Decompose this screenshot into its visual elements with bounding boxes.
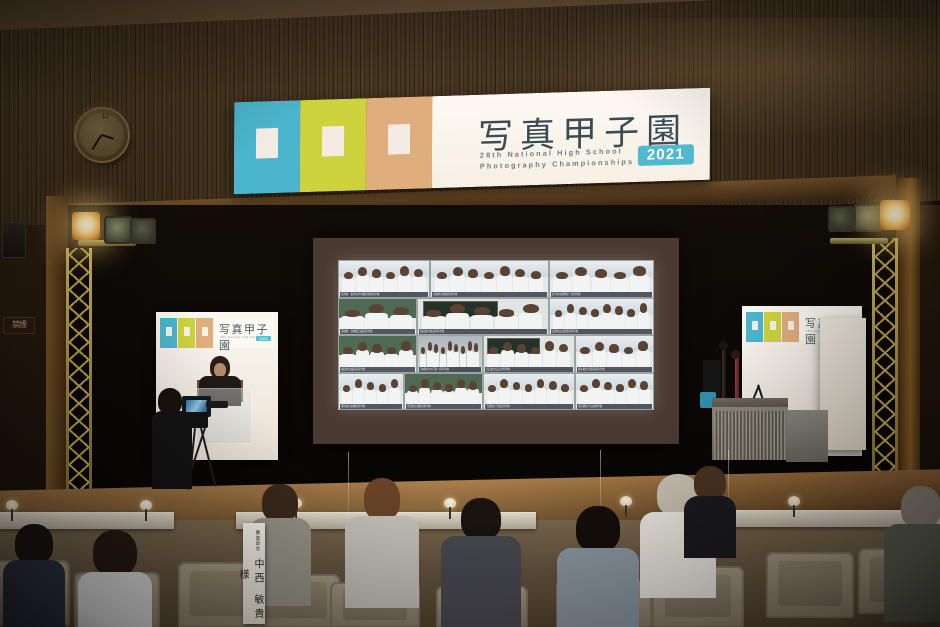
audience-member <box>688 466 732 556</box>
participant-figure <box>365 390 376 404</box>
video-tile-participants <box>339 380 403 404</box>
audience-head <box>364 478 400 520</box>
camera-lens <box>206 401 228 408</box>
video-tile-name-label: 山形県立山形東高等学校 <box>551 329 652 334</box>
participant-figure <box>590 388 601 404</box>
participant-figure <box>487 391 498 404</box>
participant-figure <box>622 354 636 367</box>
audience-torso <box>557 548 639 627</box>
desk-lamp-6 <box>788 496 800 506</box>
video-tile[interactable]: 埼玉県立浦和高等学校 <box>404 373 483 411</box>
operator-torso <box>152 411 192 489</box>
participant-figure <box>440 354 446 367</box>
audience-member <box>82 530 148 627</box>
side-wall-left <box>0 225 50 525</box>
video-tile-participants <box>550 267 653 291</box>
participant-figure <box>601 313 612 329</box>
participant-figure <box>482 279 497 292</box>
video-tile-name-text: 栃木県立宇都宮高等学校 <box>578 367 604 372</box>
panel-right-swatch-2 <box>764 312 781 342</box>
participant-figure <box>592 277 610 291</box>
participant-figure <box>553 316 564 329</box>
video-tile-name-label: 千葉県立千葉高等学校 <box>485 404 573 409</box>
participant-figure <box>511 390 522 404</box>
speaker-cabinet-left <box>2 222 26 258</box>
audience-torso <box>3 560 65 627</box>
participant-figure <box>342 279 355 292</box>
light-bar-right <box>830 238 888 244</box>
video-tile-participants <box>484 380 574 404</box>
participant-figure <box>370 277 383 291</box>
panel-left-sq-2 <box>184 327 190 336</box>
placard-surname: 中西 <box>252 559 263 587</box>
participant-figure <box>593 350 607 366</box>
placard-honorific: 様 <box>237 569 248 583</box>
video-tile-name-text: 茨城県立水戸第一高等学校 <box>420 367 449 372</box>
participant-figure <box>615 391 626 404</box>
participant-figure <box>543 350 556 366</box>
proscenium-left-jamb <box>46 196 68 496</box>
video-tile[interactable]: 福島県立福島高等学校 <box>338 335 417 373</box>
video-tile[interactable]: 山口県立山口高等学校 <box>483 335 575 373</box>
video-tile-participants <box>405 380 482 404</box>
acrylic-divider-2 <box>600 450 601 514</box>
audience-member <box>566 506 630 627</box>
participant-figure <box>523 391 534 404</box>
banner-swatch-square-1 <box>256 128 278 159</box>
video-tile-name-label: 福島県立福島高等学校 <box>340 367 415 372</box>
participant-figure <box>572 275 590 291</box>
video-tile[interactable]: 栃木県立宇都宮高等学校 <box>575 335 654 373</box>
audience-torso <box>684 496 736 558</box>
participant-figure <box>385 354 399 367</box>
participant-figure <box>487 354 500 367</box>
participant-figure <box>577 315 588 329</box>
video-tile-name-text: 山形県立山形東高等学校 <box>552 329 578 334</box>
participant-figure <box>412 277 425 292</box>
panel-left-swatch-2 <box>178 318 195 348</box>
video-tile[interactable]: 千葉県立千葉高等学校 <box>483 373 575 411</box>
audience-member <box>892 486 940 618</box>
participant-figure <box>578 391 589 404</box>
no-smoking-sign: 禁煙 <box>3 317 35 334</box>
panel-left-subtitle: 28th National High School <box>220 336 260 340</box>
lighting-truss-right <box>872 238 898 500</box>
panel-right-swatch-3 <box>782 312 799 342</box>
participant-figure <box>626 316 637 329</box>
audience-head <box>262 484 298 522</box>
participant-figure <box>420 354 426 367</box>
placard-role: 審査員長 <box>255 530 260 552</box>
video-tile[interactable]: 東京都立戸山高等学校 <box>575 373 654 411</box>
participant-figure <box>365 313 388 329</box>
banner-swatch-square-2 <box>322 126 344 157</box>
panel-left-swatch-1 <box>160 318 177 348</box>
video-tile-name-text: 東京都立戸山高等学校 <box>578 404 602 409</box>
video-tile-name-label: 宮城県・宮城県工業高等学校 <box>340 329 415 334</box>
participant-figure <box>627 388 638 404</box>
chair <box>766 552 854 618</box>
desk-lamp-5 <box>620 496 632 506</box>
panel-right-sq-3 <box>788 321 794 330</box>
video-tile-name-label: 栃木県立宇都宮高等学校 <box>577 367 652 372</box>
participant-figure <box>390 315 413 329</box>
stage-light-right-off-1 <box>828 206 854 232</box>
participant-figure <box>501 350 514 366</box>
audience-torso <box>441 536 521 627</box>
participant-figure <box>529 354 542 367</box>
lighting-truss-left <box>66 248 92 498</box>
video-tile-name-label: 山口県立山口高等学校 <box>485 367 573 372</box>
lectern-side-block-right <box>786 410 828 462</box>
video-tile-name-label: 岩手県立盛岡第一高等学校 <box>551 292 652 297</box>
audience-torso <box>78 572 152 627</box>
panel-right-sq-2 <box>770 321 776 330</box>
participant-figure <box>370 352 384 366</box>
stage-light-left-off-2 <box>130 218 156 244</box>
participant-figure <box>547 389 558 404</box>
desk-lamp-stem-1 <box>11 509 13 521</box>
participant-figure <box>447 350 453 366</box>
stage-light-right-on <box>880 200 910 230</box>
audience-head <box>461 498 501 540</box>
participant-figure <box>553 279 571 292</box>
video-tile[interactable]: 群馬県立前橋高等学校 <box>338 373 404 411</box>
banner-swatch-cyan <box>234 100 300 194</box>
participant-figure <box>460 353 466 366</box>
clock-minute-hand <box>92 135 102 150</box>
video-conference-grid: 北海道・東海大学付属札幌高等学校青森県立青森高等学校岩手県立盛岡第一高等学校宮城… <box>338 260 654 410</box>
panel-left-sq-1 <box>166 327 172 336</box>
participant-figure <box>431 390 442 404</box>
participant-figure <box>613 314 624 329</box>
video-tile[interactable]: 茨城県立水戸第一高等学校 <box>417 335 483 373</box>
video-tile-name-text: 宮城県・宮城県工業高等学校 <box>341 329 372 334</box>
participant-figure <box>453 352 459 367</box>
panel-left-text: 写真甲子園 28th National High School 2021 <box>214 318 274 348</box>
participant-figure <box>630 275 648 291</box>
video-tile-participants <box>339 267 429 291</box>
participant-figure <box>495 316 518 329</box>
video-tile[interactable]: 宮城県・宮城県工業高等学校 <box>338 298 417 336</box>
participant-figure <box>446 313 469 329</box>
participant-figure <box>638 312 649 329</box>
desk-lamp-2 <box>140 500 152 510</box>
video-tile-participants <box>576 380 653 404</box>
participant-figure <box>377 391 388 404</box>
audience-member <box>452 498 510 622</box>
participant-figure <box>341 391 352 404</box>
participant-figure <box>341 316 364 329</box>
participant-figure <box>565 313 576 329</box>
participant-figure <box>341 354 355 367</box>
banner-text-area: 写真甲子園 28th National High School Photogra… <box>432 88 710 189</box>
participant-figure <box>450 275 465 291</box>
panel-left-swatch-3 <box>196 318 213 348</box>
participant-figure <box>471 315 494 329</box>
banner-swatch-tan <box>366 96 432 190</box>
clock-numeral-12: 12 <box>102 114 109 120</box>
participant-figure <box>353 388 364 404</box>
audience-member <box>6 524 62 627</box>
participant-figure <box>467 389 478 404</box>
banner-swatch-lime <box>300 98 366 192</box>
participant-figure <box>419 388 430 404</box>
video-tile-participants <box>418 342 482 366</box>
stage-light-right-off-2 <box>854 204 882 232</box>
panel-left-logo: 写真甲子園 28th National High School 2021 <box>160 318 274 348</box>
participant-figure <box>356 350 370 366</box>
participant-figure <box>519 313 542 329</box>
participant-figure <box>466 277 481 291</box>
video-tile-name-label: 群馬県立前橋高等学校 <box>340 404 402 409</box>
participant-figure <box>499 388 510 404</box>
video-tile-participants <box>550 305 653 329</box>
participant-figure <box>589 316 600 329</box>
banner-swatch-square-3 <box>388 124 410 155</box>
video-tile-name-label: 青森県立青森高等学校 <box>432 292 547 297</box>
placard-given-name: 敏貴 <box>252 594 263 622</box>
flag-finial-1 <box>719 341 728 350</box>
video-tile[interactable]: 青森県立青森高等学校 <box>430 260 549 298</box>
audience-head <box>576 506 620 552</box>
participant-figure <box>513 277 528 292</box>
audience-torso <box>884 524 940 622</box>
audience-torso <box>345 516 419 608</box>
audience-head <box>93 530 137 576</box>
wall-clock: 12 <box>74 107 130 163</box>
stage-light-left-on <box>72 212 100 240</box>
participant-figure <box>607 352 621 366</box>
participant-figure <box>435 279 450 292</box>
participant-figure <box>443 391 454 404</box>
stage-light-left-off-1 <box>104 216 132 244</box>
participant-figure <box>557 352 570 367</box>
participant-figure <box>399 350 413 366</box>
participant-figure <box>433 352 439 366</box>
panel-right-sq-1 <box>752 321 758 330</box>
auditorium-scene: 禁煙 12 写真甲子園 28th National High School Ph… <box>0 0 940 627</box>
video-tile-participants <box>339 305 416 329</box>
desk-lamp-stem-2 <box>145 509 147 521</box>
video-tile-name-text: 千葉県立千葉高等学校 <box>486 404 510 409</box>
participant-figure <box>515 352 528 366</box>
video-tile-name-label: 秋田県立秋田高等学校 <box>419 329 547 334</box>
video-tile-participants <box>484 342 574 366</box>
participant-figure <box>559 391 570 404</box>
desk-lamp-stem-6 <box>793 505 795 517</box>
banner-subtitle: 28th National High School Photography Ch… <box>480 146 634 172</box>
desk-lamp-stem-4 <box>449 507 451 519</box>
participant-figure <box>467 350 473 367</box>
participant-figure <box>455 388 466 404</box>
audience-member <box>356 478 408 598</box>
participant-figure <box>529 278 544 291</box>
desk-lamp-1 <box>6 500 18 510</box>
video-tile[interactable]: 山形県立山形東高等学校 <box>549 298 654 336</box>
video-tile-name-text: 秋田県立秋田高等学校 <box>420 329 444 334</box>
participant-figure <box>535 388 546 404</box>
video-tile-name-text: 岩手県立盛岡第一高等学校 <box>552 292 581 297</box>
video-tile-name-text: 埼玉県立浦和高等学校 <box>407 404 431 409</box>
audience-head <box>901 486 940 528</box>
participant-figure <box>578 354 592 367</box>
video-tile-name-text: 青森県立青森高等学校 <box>433 292 457 297</box>
wooden-lectern-right <box>712 398 788 460</box>
participant-figure <box>602 390 613 404</box>
name-placard: 審査員長 中西 敏貴 様 <box>243 523 265 624</box>
video-tile-name-text: 北海道・東海大学付属札幌高等学校 <box>341 292 379 297</box>
flag-finial-2 <box>731 350 740 359</box>
presenter-face <box>214 363 226 377</box>
audience-head <box>694 466 726 500</box>
acrylic-divider-1 <box>348 452 349 514</box>
clock-face: 12 <box>80 113 124 157</box>
video-tile[interactable]: 秋田県立秋田高等学校 <box>417 298 549 336</box>
flag-pole-1 <box>722 348 726 404</box>
event-banner: 写真甲子園 28th National High School Photogra… <box>234 88 710 195</box>
panel-left-year: 2021 <box>256 336 271 341</box>
video-tile[interactable]: 岩手県立盛岡第一高等学校 <box>549 260 654 298</box>
participant-figure <box>611 279 629 292</box>
participant-figure <box>407 391 418 404</box>
video-tile-name-label: 茨城県立水戸第一高等学校 <box>419 367 481 372</box>
panel-right-swatch-1 <box>746 312 763 342</box>
video-tile[interactable]: 北海道・東海大学付属札幌高等学校 <box>338 260 430 298</box>
audience-head <box>15 524 53 564</box>
panel-left-sq-3 <box>202 327 208 336</box>
participant-figure <box>639 389 650 404</box>
participant-figure <box>473 352 479 367</box>
participant-figure <box>356 275 369 291</box>
video-tile-name-label: 北海道・東海大学付属札幌高等学校 <box>340 292 428 297</box>
banner-year-badge: 2021 <box>638 144 694 166</box>
video-tile-participants <box>339 342 416 366</box>
participant-figure <box>636 350 650 366</box>
video-tile-name-text: 群馬県立前橋高等学校 <box>341 404 365 409</box>
participant-figure <box>389 388 400 404</box>
video-tile-name-text: 福島県立福島高等学校 <box>341 367 365 372</box>
participant-figure <box>427 350 433 366</box>
clock-hour-hand <box>102 134 114 140</box>
video-tile-name-label: 埼玉県立浦和高等学校 <box>406 404 481 409</box>
video-tile-name-text: 山口県立山口高等学校 <box>486 367 510 372</box>
video-tile-name-label: 東京都立戸山高等学校 <box>577 404 652 409</box>
participant-figure <box>497 275 512 291</box>
video-tile-participants <box>431 267 548 291</box>
video-tile-participants <box>418 305 548 329</box>
participant-figure <box>384 279 397 292</box>
projection-screen: 北海道・東海大学付属札幌高等学校青森県立青森高等学校岩手県立盛岡第一高等学校宮城… <box>313 238 679 444</box>
flag-pole-2 <box>735 356 739 404</box>
video-tile-participants <box>576 342 653 366</box>
participant-figure <box>422 316 445 329</box>
participant-figure <box>398 275 411 291</box>
camera-operator <box>152 388 192 488</box>
